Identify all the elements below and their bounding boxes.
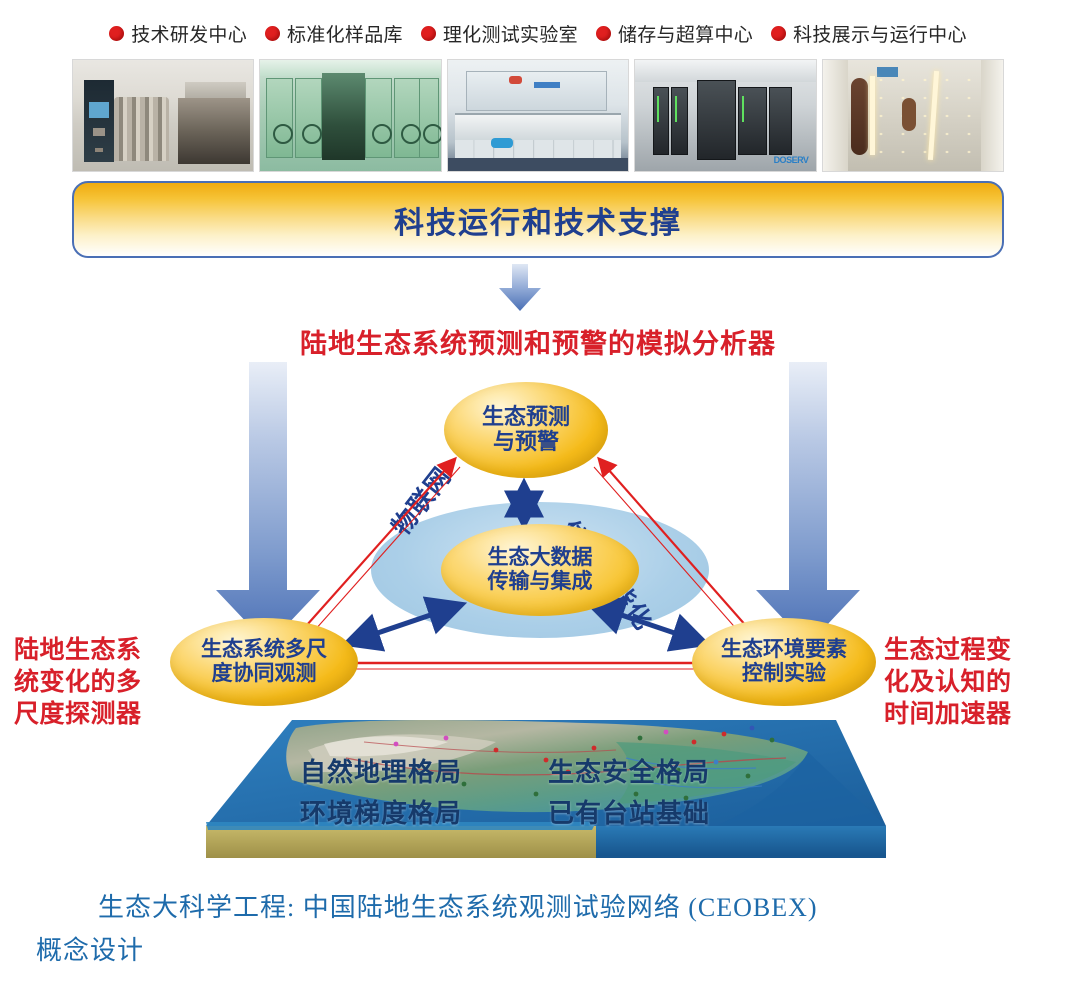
terrain-label-environment-gradient: 环境梯度格局 [300, 793, 532, 830]
storage-supercomputing-center-photo: DOSERV [634, 59, 816, 172]
side-right-line3: 时间加速器 [884, 698, 1064, 730]
node-left-line2: 度协同观测 [212, 662, 317, 685]
caption-line1: 生态大科学工程: 中国陆地生态系统观测试验网络 (CEOBEX) [98, 893, 818, 922]
legend-item-label: 标准化样品库 [287, 20, 403, 47]
science-exhibition-operation-center-photo [822, 59, 1004, 172]
vendor-watermark: DOSERV [774, 155, 809, 165]
node-left-line1: 生态系统多尺 [201, 638, 327, 661]
tech-operation-support-banner: 科技运行和技术支撑 [72, 181, 1004, 258]
side-right-line1: 生态过程变 [884, 634, 1064, 666]
legend-item-standardized-sample-library: 标准化样品库 [265, 20, 403, 47]
legend-item-label: 储存与超算中心 [618, 20, 753, 47]
side-text-time-accelerator: 生态过程变 化及认知的 时间加速器 [884, 634, 1064, 730]
side-right-line2: 化及认知的 [884, 666, 1064, 698]
bullet-dot-icon [265, 26, 280, 41]
node-center-line2: 传输与集成 [488, 570, 593, 593]
side-left-line1: 陆地生态系 [14, 634, 174, 666]
banner-label: 科技运行和技术支撑 [394, 198, 682, 242]
node-multiscale-observation: 生态系统多尺 度协同观测 [170, 618, 358, 706]
node-right-line2: 控制实验 [742, 662, 826, 685]
side-left-line3: 尺度探测器 [14, 698, 174, 730]
terrain-label-natural-geography: 自然地理格局 [300, 752, 532, 789]
link-left-to-top [290, 460, 460, 649]
terrain-label-group: 自然地理格局 生态安全格局 环境梯度格局 已有台站基础 [300, 752, 780, 830]
legend-item-technology-rd-center: 技术研发中心 [109, 20, 247, 47]
bullet-dot-icon [596, 26, 611, 41]
figure-caption: 生态大科学工程: 中国陆地生态系统观测试验网络 (CEOBEX) 概念设计 [36, 887, 1046, 973]
legend-item-label: 科技展示与运行中心 [793, 20, 967, 47]
node-environment-control-experiment: 生态环境要素 控制实验 [692, 618, 876, 706]
terrain-label-existing-stations: 已有台站基础 [548, 793, 780, 830]
legend-item-label: 理化测试实验室 [443, 20, 578, 47]
legend-item-label: 技术研发中心 [131, 20, 247, 47]
side-left-line2: 统变化的多 [14, 666, 174, 698]
bullet-dot-icon [109, 26, 124, 41]
bullet-dot-icon [421, 26, 436, 41]
link-center-to-left [348, 605, 460, 643]
node-right-line1: 生态环境要素 [721, 638, 847, 661]
terrain-label-ecological-security: 生态安全格局 [548, 752, 780, 789]
legend-item-physical-chemical-testing-lab: 理化测试实验室 [421, 20, 578, 47]
bullet-dot-icon [771, 26, 786, 41]
side-text-multiscale-detector: 陆地生态系 统变化的多 尺度探测器 [14, 634, 174, 730]
caption-line2: 概念设计 [36, 936, 144, 965]
legend-item-science-exhibition-operation-center: 科技展示与运行中心 [771, 20, 967, 47]
physical-chemical-testing-lab-photo [447, 59, 629, 172]
facility-photo-strip: DOSERV [72, 59, 1004, 172]
banner-down-arrow-icon [499, 264, 541, 312]
standardized-sample-library-photo [259, 59, 441, 172]
node-ecological-forecast-warning: 生态预测 与预警 [444, 382, 608, 478]
node-center-line1: 生态大数据 [488, 546, 593, 569]
technology-rd-center-photo [72, 59, 254, 172]
facility-legend: 技术研发中心 标准化样品库 理化测试实验室 储存与超算中心 科技展示与运行中心 [0, 20, 1076, 47]
link-center-to-right [592, 605, 704, 643]
node-top-line2: 与预警 [493, 429, 559, 454]
diagram-canvas: 技术研发中心 标准化样品库 理化测试实验室 储存与超算中心 科技展示与运行中心 [0, 0, 1076, 1008]
legend-item-storage-supercomputing-center: 储存与超算中心 [596, 20, 753, 47]
node-top-line1: 生态预测 [482, 404, 570, 429]
node-ecological-bigdata-integration: 生态大数据 传输与集成 [441, 524, 639, 616]
